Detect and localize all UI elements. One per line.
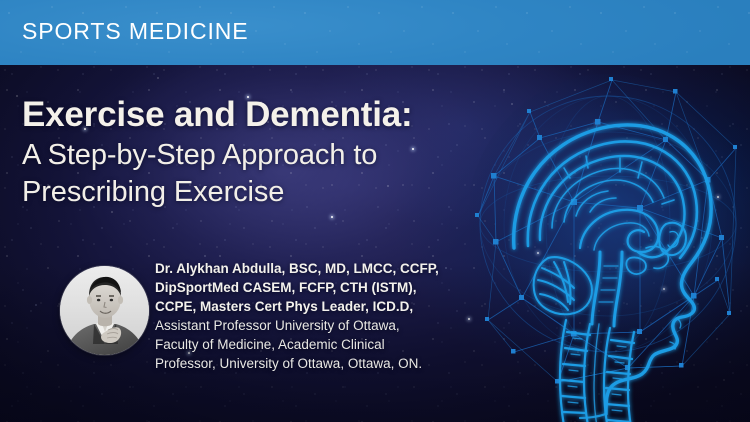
page-title: Exercise and Dementia: <box>22 94 522 136</box>
presenter-affiliation-line: Assistant Professor University of Ottawa… <box>155 316 475 335</box>
slide-canvas: SPORTS MEDICINE Exercise and Dementia: A… <box>0 0 750 422</box>
presenter-credential-line: DipSportMed CASEM, FCFP, CTH (ISTM), <box>155 278 475 297</box>
category-label: SPORTS MEDICINE <box>22 17 249 45</box>
title-block: Exercise and Dementia: A Step-by-Step Ap… <box>22 94 522 210</box>
presenter-affiliation-line: Professor, University of Ottawa, Ottawa,… <box>155 354 475 373</box>
presenter-credential-line: CCPE, Masters Cert Phys Leader, ICD.D, <box>155 297 475 316</box>
page-subtitle-line-1: A Step-by-Step Approach to <box>22 138 522 173</box>
presenter-info: Dr. Alykhan Abdulla, BSC, MD, LMCC, CCFP… <box>155 259 475 373</box>
avatar <box>60 266 149 355</box>
presenter-credential-line: Dr. Alykhan Abdulla, BSC, MD, LMCC, CCFP… <box>155 259 475 278</box>
presenter-affiliation-line: Faculty of Medicine, Academic Clinical <box>155 335 475 354</box>
page-subtitle-line-2: Prescribing Exercise <box>22 175 522 210</box>
